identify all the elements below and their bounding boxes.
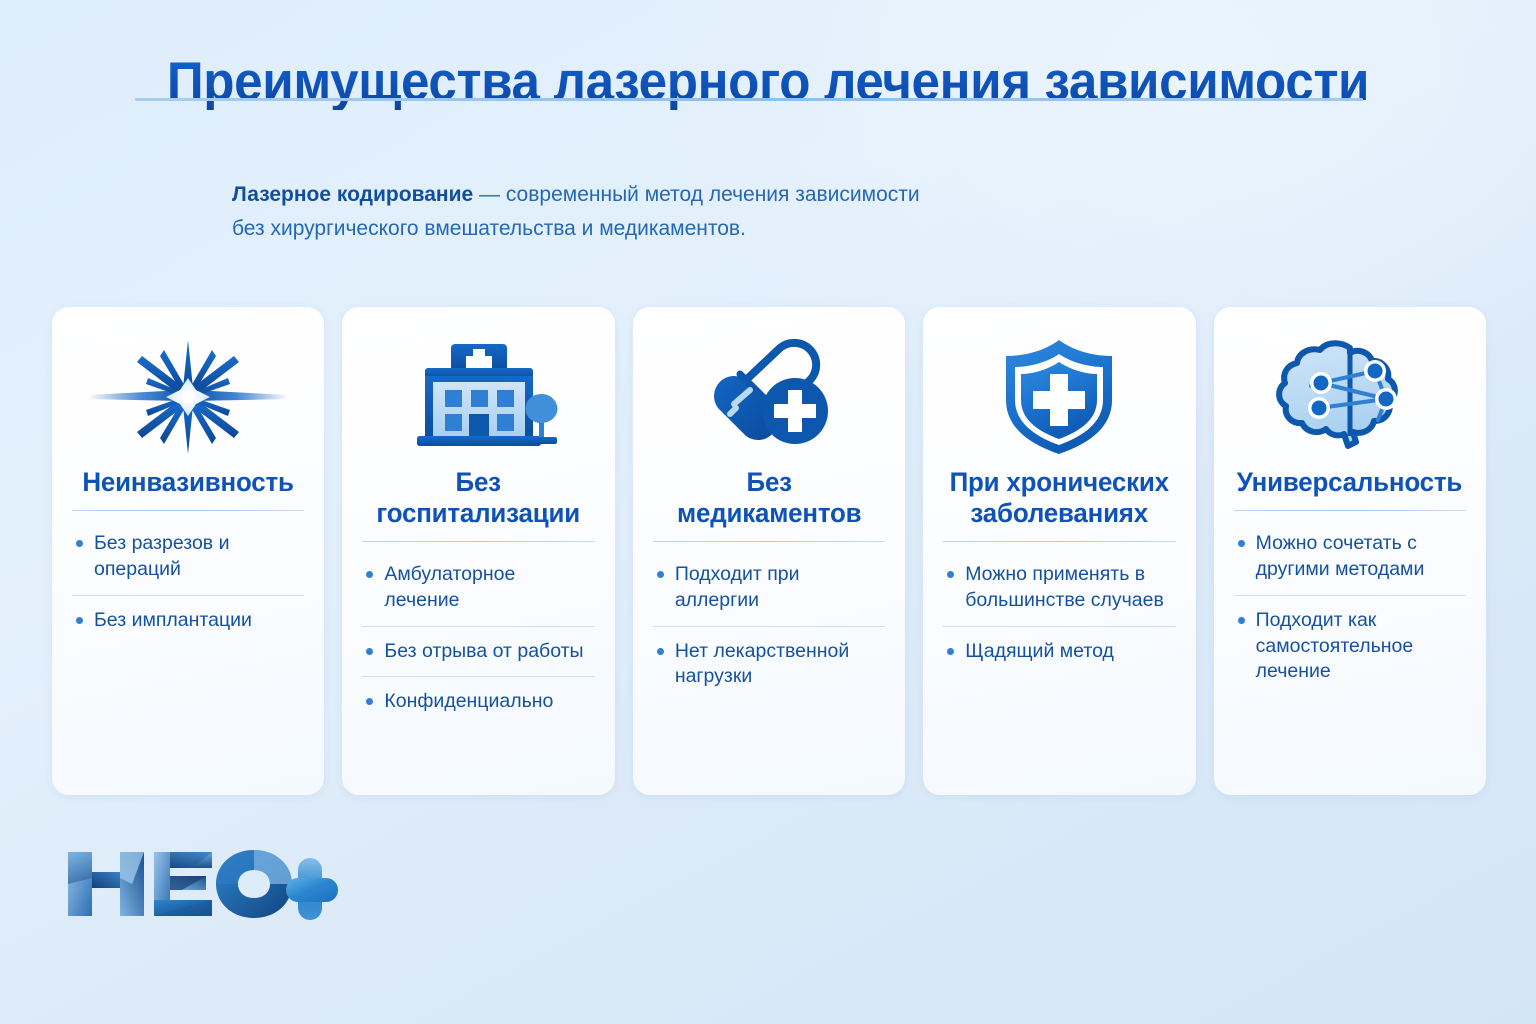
benefit-card-chronic-conditions: При хронических заболеваниях Можно приме… bbox=[923, 307, 1195, 795]
bullet-dot-icon bbox=[366, 571, 373, 578]
card-title-divider bbox=[943, 541, 1175, 543]
benefit-cards-row: Неинвазивность Без разрезов и операций Б… bbox=[52, 307, 1486, 795]
subtitle-lead: Лазерное кодирование bbox=[232, 183, 473, 206]
bullet-text: Можно применять в большинстве случаев bbox=[965, 562, 1175, 613]
subtitle-line2: без хирургического вмешательства и медик… bbox=[232, 212, 1192, 246]
subtitle: Лазерное кодирование — современный метод… bbox=[232, 178, 1192, 246]
header: Преимущества лазерного лечения зависимос… bbox=[0, 52, 1536, 110]
list-item: Можно применять в большинстве случаев bbox=[943, 550, 1175, 625]
bullet-dot-icon bbox=[1238, 540, 1245, 547]
list-item: Без имплантации bbox=[72, 595, 304, 646]
card-bullets: Подходит при аллергии Нет лекарственной … bbox=[653, 550, 885, 702]
bullet-dot-icon bbox=[947, 571, 954, 578]
list-item: Конфиденциально bbox=[362, 676, 594, 727]
bullet-dot-icon bbox=[657, 571, 664, 578]
card-title-divider bbox=[362, 541, 594, 543]
bullet-text: Без разрезов и операций bbox=[94, 531, 304, 582]
card-title: При хронических заболеваниях bbox=[948, 467, 1171, 529]
laser-burst-icon bbox=[88, 333, 288, 461]
bullet-dot-icon bbox=[366, 698, 373, 705]
card-bullets: Можно сочетать с другими методами Подход… bbox=[1234, 519, 1466, 697]
bullet-dot-icon bbox=[947, 648, 954, 655]
bullet-dot-icon bbox=[1238, 617, 1245, 624]
benefit-card-no-medication: Без медикаментов Подходит при аллергии Н… bbox=[633, 307, 905, 795]
card-title-divider bbox=[653, 541, 885, 543]
bullet-dot-icon bbox=[657, 648, 664, 655]
list-item: Без разрезов и операций bbox=[72, 519, 304, 594]
neo-plus-logo: НЕО+ bbox=[62, 838, 342, 930]
list-item: Подходит как самостоятельное лечение bbox=[1234, 595, 1466, 697]
page-title: Преимущества лазерного лечения зависимос… bbox=[54, 52, 1482, 110]
bullet-text: Конфиденциально bbox=[384, 689, 553, 715]
bullet-text: Без отрыва от работы bbox=[384, 639, 583, 665]
bullet-text: Можно сочетать с другими методами bbox=[1256, 531, 1466, 582]
card-title: Универсальность bbox=[1237, 467, 1462, 498]
card-title-divider bbox=[72, 510, 304, 512]
header-divider bbox=[135, 98, 1363, 101]
list-item: Щадящий метод bbox=[943, 626, 1175, 677]
list-item: Подходит при аллергии bbox=[653, 550, 885, 625]
card-title-divider bbox=[1234, 510, 1466, 512]
benefit-card-no-hospitalization: Без госпитализации Амбулаторное лечение … bbox=[342, 307, 614, 795]
bullet-text: Щадящий метод bbox=[965, 639, 1114, 665]
brain-network-icon bbox=[1274, 333, 1426, 461]
subtitle-rest: — современный метод лечения зависимости bbox=[473, 183, 919, 206]
card-bullets: Без разрезов и операций Без имплантации bbox=[72, 519, 304, 645]
shield-cross-icon bbox=[996, 333, 1122, 461]
card-title: Без госпитализации bbox=[367, 467, 590, 529]
bullet-text: Нет лекарственной нагрузки bbox=[675, 639, 885, 690]
card-bullets: Можно применять в большинстве случаев Ща… bbox=[943, 550, 1175, 676]
bullet-dot-icon bbox=[76, 540, 83, 547]
bullet-dot-icon bbox=[366, 648, 373, 655]
hospital-building-icon bbox=[395, 333, 563, 461]
pill-capsule-cross-icon bbox=[694, 333, 844, 461]
benefit-card-noninvasive: Неинвазивность Без разрезов и операций Б… bbox=[52, 307, 324, 795]
card-title: Неинвазивность bbox=[83, 467, 294, 498]
bullet-text: Подходит при аллергии bbox=[675, 562, 885, 613]
list-item: Можно сочетать с другими методами bbox=[1234, 519, 1466, 594]
card-title: Без медикаментов bbox=[657, 467, 880, 529]
bullet-text: Без имплантации bbox=[94, 608, 252, 634]
list-item: Нет лекарственной нагрузки bbox=[653, 626, 885, 702]
bullet-dot-icon bbox=[76, 617, 83, 624]
benefit-card-universality: Универсальность Можно сочетать с другими… bbox=[1214, 307, 1486, 795]
bullet-text: Амбулаторное лечение bbox=[384, 562, 594, 613]
list-item: Без отрыва от работы bbox=[362, 626, 594, 677]
card-bullets: Амбулаторное лечение Без отрыва от работ… bbox=[362, 550, 594, 727]
bullet-text: Подходит как самостоятельное лечение bbox=[1256, 608, 1466, 685]
list-item: Амбулаторное лечение bbox=[362, 550, 594, 625]
infographic-page: Преимущества лазерного лечения зависимос… bbox=[0, 0, 1536, 1024]
